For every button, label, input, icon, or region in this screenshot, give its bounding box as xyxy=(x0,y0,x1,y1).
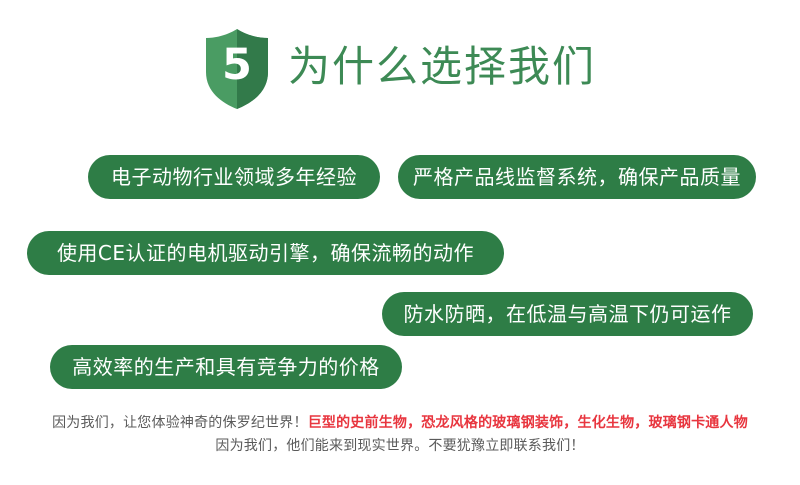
feature-bubble-1: 电子动物行业领域多年经验 xyxy=(88,155,380,199)
shield-number: 5 xyxy=(204,28,270,110)
feature-bubble-2: 严格产品线监督系统，确保产品质量 xyxy=(398,155,756,199)
footer-line-1-highlight: 巨型的史前生物，恐龙风格的玻璃钢装饰，生化生物，玻璃钢卡通人物 xyxy=(308,415,748,431)
shield-icon: 5 xyxy=(204,28,270,110)
footer-text-block: 因为我们，让您体验神奇的侏罗纪世界！巨型的史前生物，恐龙风格的玻璃钢装饰，生化生… xyxy=(0,412,800,458)
feature-bubble-5-label: 高效率的生产和具有竞争力的价格 xyxy=(72,357,380,377)
feature-bubble-4-label: 防水防晒，在低温与高温下仍可运作 xyxy=(404,304,732,324)
feature-bubble-3-label: 使用CE认证的电机驱动引擎，确保流畅的动作 xyxy=(57,243,474,263)
feature-bubble-1-label: 电子动物行业领域多年经验 xyxy=(111,167,357,187)
feature-bubble-4: 防水防晒，在低温与高温下仍可运作 xyxy=(382,292,753,336)
footer-line-2: 因为我们，他们能来到现实世界。不要犹豫立即联系我们！ xyxy=(0,435,800,458)
footer-line-1: 因为我们，让您体验神奇的侏罗纪世界！巨型的史前生物，恐龙风格的玻璃钢装饰，生化生… xyxy=(0,412,800,435)
page-header: 5 为什么选择我们 xyxy=(0,26,800,112)
feature-bubble-3: 使用CE认证的电机驱动引擎，确保流畅的动作 xyxy=(27,231,504,275)
page-title: 为什么选择我们 xyxy=(288,46,596,92)
footer-line-1-plain: 因为我们，让您体验神奇的侏罗纪世界！ xyxy=(52,415,308,431)
feature-bubble-2-label: 严格产品线监督系统，确保产品质量 xyxy=(413,167,741,187)
feature-bubble-5: 高效率的生产和具有竞争力的价格 xyxy=(50,345,402,389)
